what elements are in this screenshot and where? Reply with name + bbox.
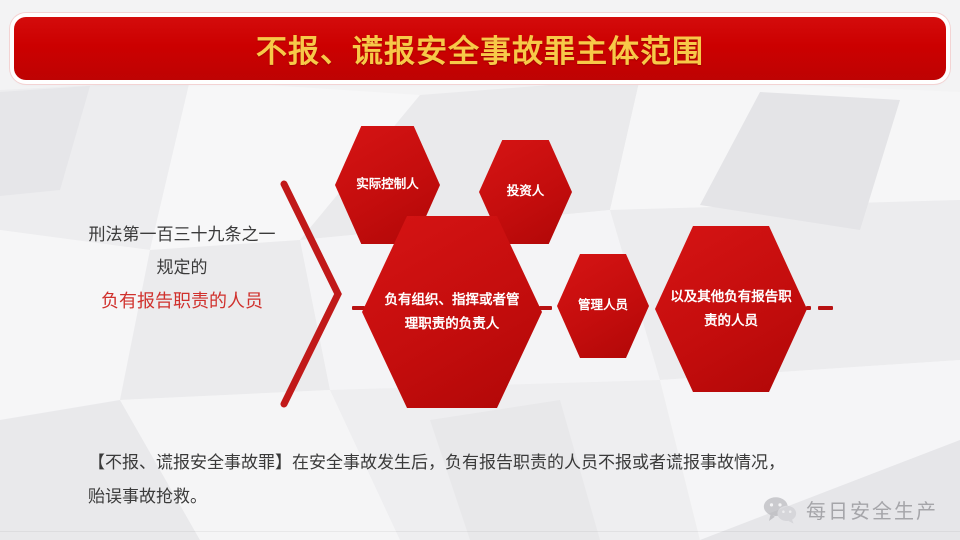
brand-name: 每日安全生产 bbox=[806, 495, 938, 524]
hexagon-label-management-staff: 管理人员 bbox=[570, 295, 636, 317]
hexagon-label-responsible-line1: 负有组织、指挥或者管 bbox=[377, 288, 528, 312]
caption-line-1: 刑法第一百三十九条之一 bbox=[66, 218, 298, 251]
left-caption-block: 刑法第一百三十九条之一 规定的 负有报告职责的人员 bbox=[66, 218, 298, 319]
chevron-right-icon bbox=[276, 178, 356, 410]
caption-emphasis: 负有报告职责的人员 bbox=[66, 284, 298, 319]
connector-dash-middle bbox=[539, 306, 552, 310]
connector-dash-left bbox=[352, 306, 365, 310]
hexagon-label-investor: 投资人 bbox=[499, 181, 553, 203]
hexagon-label-responsible-line2: 理职责的负责人 bbox=[377, 312, 528, 336]
brand-watermark: 每日安全生产 bbox=[763, 495, 938, 524]
hexagon-label-other-line1: 以及其他负有报告职 bbox=[662, 285, 800, 309]
wechat-icon bbox=[763, 496, 797, 524]
hexagon-label-other-line2: 责的人员 bbox=[662, 309, 800, 333]
footnote-line-1: 【不报、谎报安全事故罪】在安全事故发生后，负有报告职责的人员不报或者谎报事故情况… bbox=[88, 446, 888, 480]
slide-canvas: 不报、谎报安全事故罪主体范围 刑法第一百三十九条之一 规定的 负有报告职责的人员… bbox=[0, 0, 960, 540]
connector-dash-right-2 bbox=[818, 306, 833, 310]
hexagon-label-actual-controller: 实际控制人 bbox=[348, 174, 427, 196]
bottom-divider bbox=[0, 531, 960, 532]
page-title: 不报、谎报安全事故罪主体范围 bbox=[256, 26, 704, 71]
slide-title-bar: 不报、谎报安全事故罪主体范围 bbox=[14, 17, 946, 80]
caption-line-2: 规定的 bbox=[66, 251, 298, 284]
